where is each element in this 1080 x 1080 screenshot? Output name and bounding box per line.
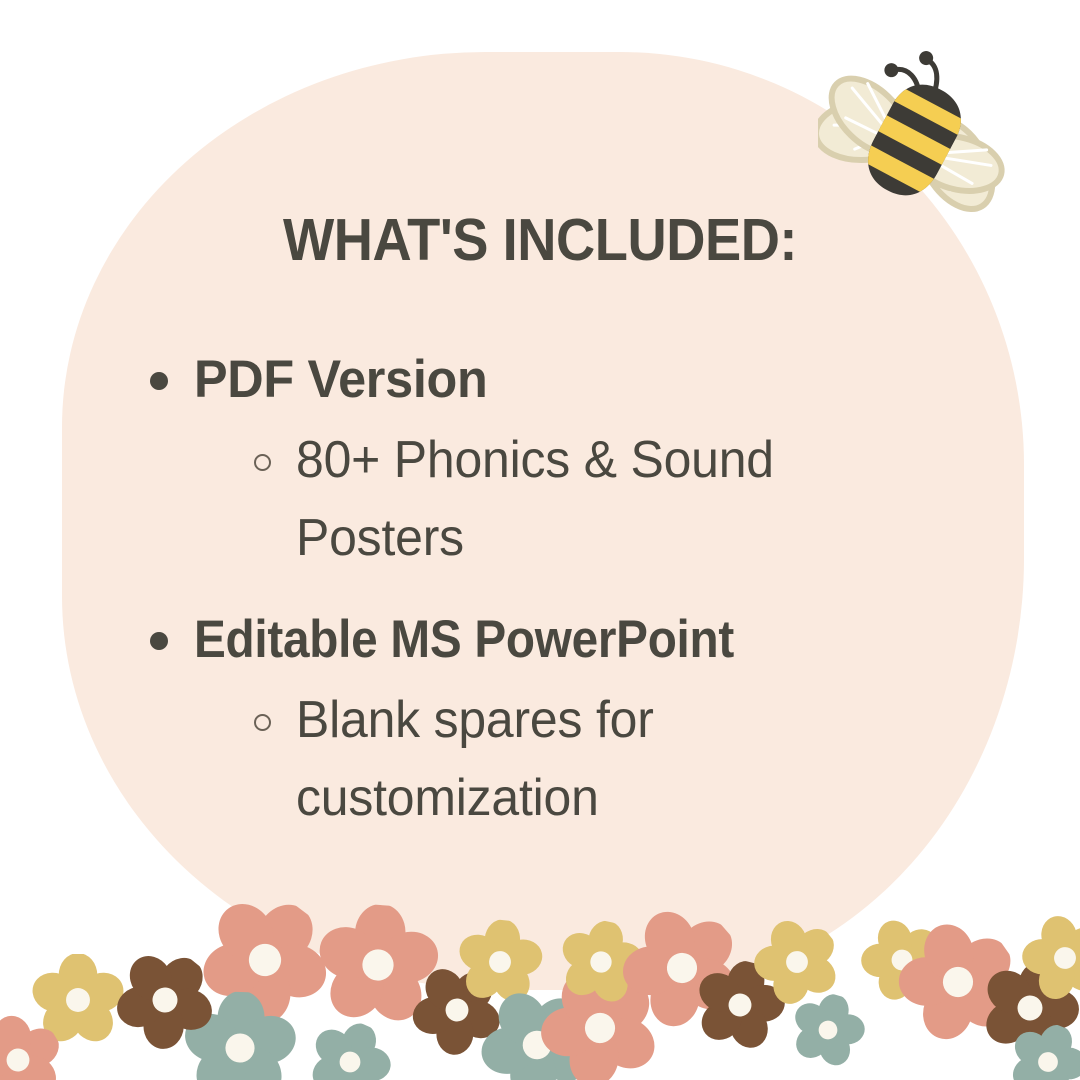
poster-canvas: WHAT'S INCLUDED: PDF Version 80+ Phonics… (0, 0, 1080, 1080)
list-item: Editable MS PowerPoint (150, 605, 1030, 675)
filled-dot-icon (150, 372, 168, 390)
included-list: PDF Version 80+ Phonics & Sound Posters … (150, 345, 1030, 865)
poster-content: WHAT'S INCLUDED: PDF Version 80+ Phonics… (0, 0, 1080, 1080)
page-title: WHAT'S INCLUDED: (43, 206, 1037, 274)
list-item-label: PDF Version (194, 345, 487, 415)
list-item: Blank spares for customization (254, 681, 1030, 837)
list-item: PDF Version (150, 345, 1030, 415)
hollow-circle-icon (254, 454, 271, 471)
filled-dot-icon (150, 632, 168, 650)
list-item-label: Editable MS PowerPoint (194, 605, 734, 675)
list-item-label: 80+ Phonics & Sound Posters (296, 421, 910, 577)
list-item-label: Blank spares for customization (296, 681, 910, 837)
list-item: 80+ Phonics & Sound Posters (254, 421, 1030, 577)
hollow-circle-icon (254, 714, 271, 731)
